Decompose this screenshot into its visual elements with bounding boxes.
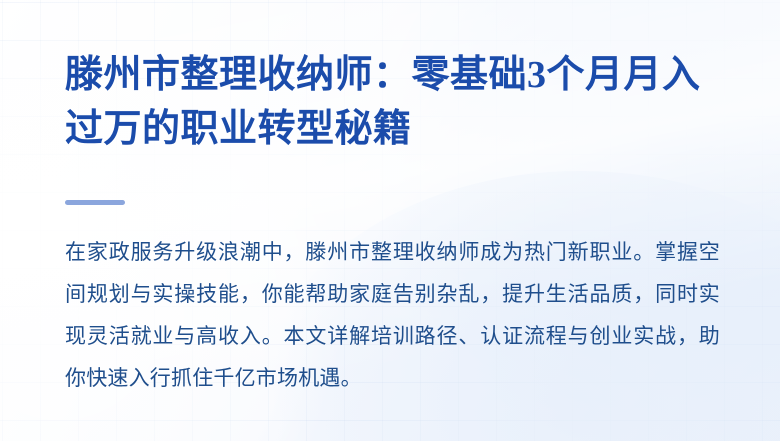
hero-card: 滕州市整理收纳师：零基础3个月月入过万的职业转型秘籍 在家政服务升级浪潮中，滕州… xyxy=(0,0,780,441)
hero-content: 滕州市整理收纳师：零基础3个月月入过万的职业转型秘籍 在家政服务升级浪潮中，滕州… xyxy=(65,0,725,441)
hero-summary-text: 在家政服务升级浪潮中，滕州市整理收纳师成为热门新职业。掌握空间规划与实操技能，你… xyxy=(65,232,720,400)
page-title: 滕州市整理收纳师：零基础3个月月入过万的职业转型秘籍 xyxy=(65,48,710,156)
title-divider xyxy=(65,200,125,205)
